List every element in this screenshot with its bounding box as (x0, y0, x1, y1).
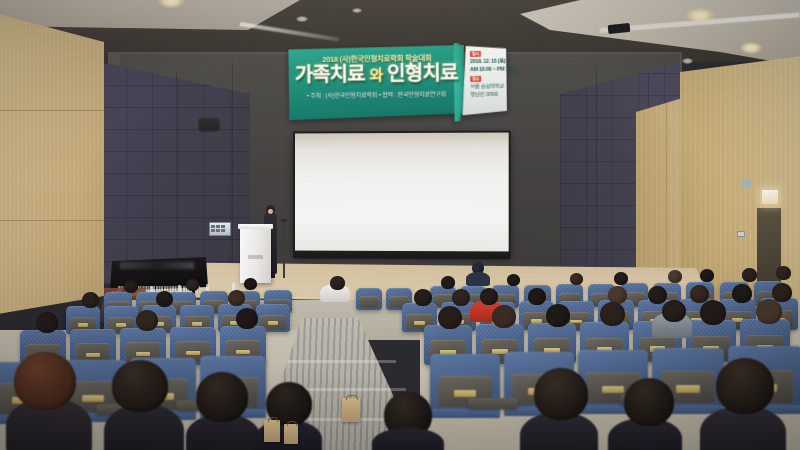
attendee-head (441, 276, 455, 289)
attendee-head (690, 285, 709, 303)
downlight-icon (740, 42, 762, 54)
attendee-head (136, 310, 158, 331)
paper-shopping-bag (284, 424, 298, 444)
projection-screen (293, 130, 511, 255)
wall-panel-seam (232, 62, 233, 276)
wall-panel-seam (596, 66, 597, 276)
attendee-head (480, 288, 498, 305)
attendee-head (742, 268, 757, 282)
lectern-top (238, 224, 273, 229)
attendee-head (438, 306, 462, 329)
attendee-head (600, 302, 625, 326)
attendee-head (700, 269, 714, 282)
attendee-head (534, 368, 588, 420)
downlight-icon (296, 16, 308, 22)
paper-shopping-bag (264, 420, 280, 442)
wall-light-switch[interactable] (737, 231, 745, 237)
attendee-head (546, 304, 570, 327)
attendee-head (492, 305, 516, 328)
banner-title-right: 인형치료 (387, 62, 458, 85)
banner-info-block: 일시 2018. 12. 15 (토) AM 10:00 ~ PM 3:30 장… (470, 49, 505, 99)
attendee-head (244, 278, 257, 290)
attendee-head (624, 378, 674, 426)
wood-wall-left (0, 14, 104, 314)
presenter-face (268, 209, 273, 214)
banner-title-conjunction: 와 (369, 67, 382, 84)
attendee-head (124, 280, 138, 293)
projection-screen-surface (295, 133, 509, 252)
attendee-head (756, 299, 782, 324)
attendee-head (452, 289, 470, 306)
paper-shopping-bag (342, 398, 360, 422)
banner-place-tag: 장소 (470, 76, 481, 82)
banner-time: AM 10:00 ~ PM 3:30 (470, 66, 504, 75)
attendee-head (507, 274, 520, 286)
seat-armrest (468, 398, 518, 409)
attendee-head (776, 266, 791, 280)
lectern-emblem (248, 255, 263, 259)
piano-reflection (120, 262, 194, 269)
attendee-head (570, 273, 583, 285)
conference-banner: 2018 (사)한국인형치료학회 학술대회 가족치료 와 인형치료 • 주최 :… (288, 44, 507, 120)
downlight-icon (682, 58, 693, 64)
wall-panel-seam (176, 72, 177, 274)
wall-speaker-icon (199, 118, 219, 130)
seat[interactable] (356, 288, 382, 310)
attendee-head (82, 292, 99, 308)
attendee-head (196, 372, 248, 422)
microphone-stand (283, 222, 285, 278)
banner-place-line2: 형남관 309호 (470, 91, 504, 100)
projection-screen-weight-bar (293, 254, 511, 260)
attendee-head (330, 276, 345, 290)
door-light-icon (762, 190, 778, 204)
attendee-head (700, 300, 726, 325)
attendee-head (668, 270, 682, 283)
attendee-head (716, 358, 774, 414)
attendee-head (772, 283, 792, 302)
attendee-head (662, 300, 686, 322)
banner-title-left: 가족치료 (295, 63, 365, 86)
downlight-icon (352, 8, 362, 13)
attendee-head (648, 286, 667, 304)
attendee-head (14, 352, 76, 410)
banner-place-line1: 서울 숭실대학교 (470, 83, 504, 92)
attendee-head (156, 291, 173, 307)
attendee-head (414, 289, 432, 306)
attendee-head (528, 288, 546, 305)
auditorium-photo: 2018 (사)한국인형치료학회 학술대회 가족치료 와 인형치료 • 주최 :… (0, 0, 800, 450)
attendee-head (236, 308, 258, 329)
attendee-head (228, 290, 245, 306)
attendee-head (112, 360, 168, 412)
av-wall-control-panel[interactable] (209, 222, 231, 236)
lectern (240, 227, 271, 283)
attendee-shoulders (372, 428, 444, 450)
exit-sign (741, 180, 751, 187)
aisle-step (288, 360, 396, 363)
attendee-head (186, 279, 199, 291)
attendee-shoulders (466, 272, 490, 286)
attendee-head (36, 312, 58, 333)
banner-title: 가족치료 와 인형치료 (293, 63, 461, 85)
banner-date-tag: 일시 (470, 51, 481, 57)
downlight-icon (686, 8, 714, 23)
banner-subtitle: • 주최 : (사)한국인형치료학회 • 협력 : 한국인형치료연구회 (295, 89, 458, 100)
attendee-head (614, 272, 628, 285)
attendee-head (732, 284, 752, 303)
